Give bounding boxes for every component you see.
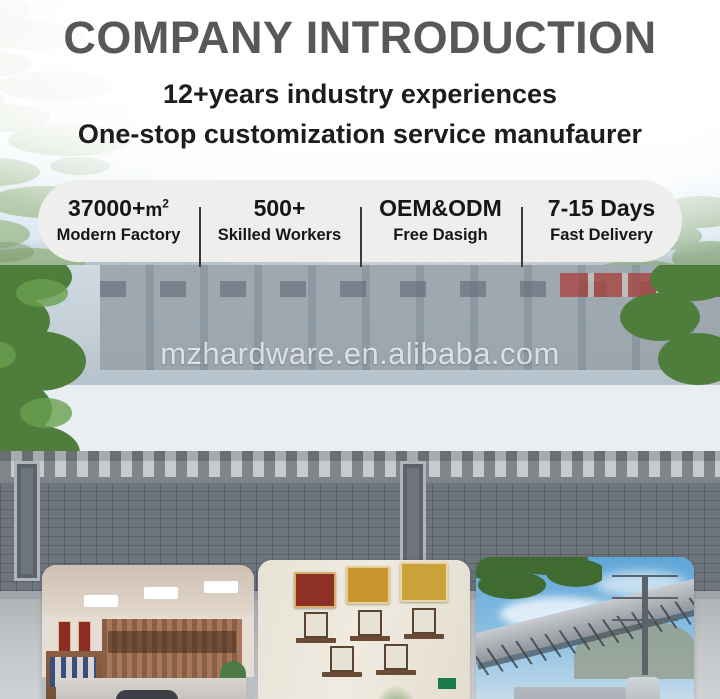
stat-unit: m — [145, 200, 162, 221]
tile3-crane-tower — [642, 575, 648, 675]
stat-value: OEM&ODM — [364, 196, 517, 222]
stat-label: Modern Factory — [42, 224, 195, 246]
stat-label: Skilled Workers — [203, 224, 356, 246]
tile2-shelf-3 — [404, 634, 444, 639]
tile1-chair — [116, 690, 178, 699]
hero-subtitle-2: One-stop customization service manufaure… — [0, 119, 720, 150]
tile2-plaque-gold-2 — [400, 562, 448, 602]
wall-lattice-left — [14, 461, 40, 581]
stat-value-number: 37000+ — [68, 195, 145, 221]
gallery-tile-factory-exterior-photo[interactable] — [476, 557, 694, 699]
stat-item-skilled-workers: 500+ Skilled Workers — [199, 196, 360, 246]
stat-item-free-design: OEM&ODM Free Dasigh — [360, 196, 521, 246]
tile2-frame-1 — [304, 612, 328, 638]
tile2-frame-2 — [358, 610, 382, 636]
background-tree-left — [0, 265, 110, 481]
background-tree-right — [606, 265, 720, 405]
tile2-shelf-2 — [350, 636, 390, 641]
stat-label: Fast Delivery — [525, 224, 678, 246]
tile2-shelf-1 — [296, 638, 336, 643]
hero-subtitle-1: 12+years industry experiences — [0, 79, 720, 110]
gallery-tile-office-showroom-photo[interactable] — [42, 565, 254, 699]
tile3-plant-building — [514, 687, 644, 699]
gallery-section — [0, 265, 720, 699]
tile2-frame-4 — [330, 646, 354, 672]
tile2-plaque-red — [294, 572, 336, 608]
stat-value: 500+ — [203, 196, 356, 222]
tile2-shelf-4 — [322, 672, 362, 677]
tile2-frame-3 — [412, 608, 436, 634]
tile2-exit-sign — [438, 678, 456, 689]
tile2-shelf-5 — [376, 670, 416, 675]
tile2-frame-5 — [384, 644, 408, 670]
tile2-grass-plant — [364, 684, 428, 699]
stat-value: 7-15 Days — [525, 196, 678, 222]
stats-bar: 37000+m2 Modern Factory 500+ Skilled Wor… — [38, 180, 682, 262]
gallery-tile-certificate-wall-photo[interactable] — [258, 560, 470, 699]
company-introduction-banner: COMPANY INTRODUCTION 12+years industry e… — [0, 0, 720, 699]
stat-item-modern-factory: 37000+m2 Modern Factory — [38, 196, 199, 246]
page-title: COMPANY INTRODUCTION — [0, 12, 720, 64]
stat-label: Free Dasigh — [364, 224, 517, 246]
tile3-silo — [626, 677, 660, 699]
tile1-ceiling — [42, 565, 254, 617]
tile2-plaque-gold-1 — [346, 566, 390, 604]
stat-unit-exponent: 2 — [162, 196, 169, 210]
stat-item-fast-delivery: 7-15 Days Fast Delivery — [521, 196, 682, 246]
tile1-company-sign — [108, 631, 236, 653]
stat-value: 37000+m2 — [42, 196, 195, 222]
